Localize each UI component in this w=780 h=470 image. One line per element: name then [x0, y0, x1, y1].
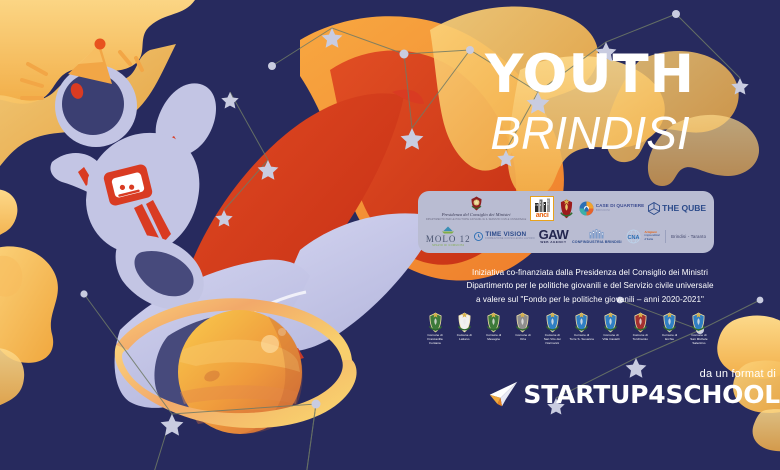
- funding-line-3: a valere sul "Fondo per le politiche gio…: [400, 293, 780, 306]
- comune-label: Comune diTorchiarolo: [633, 334, 648, 342]
- molo-12-tagline: SPAZIO DI COMUNITA: [432, 244, 464, 247]
- brindisi-crest-icon: [558, 198, 575, 219]
- comune-label-line: Normanni: [544, 342, 561, 346]
- comune-label-line: Salentino: [690, 342, 707, 346]
- gaw-wordmark: GAW: [539, 228, 569, 241]
- gaw-logo: GAW WEB AGENCY: [539, 223, 569, 250]
- confindustria-wordmark: CONFINDUSTRIA BRINDISI: [572, 240, 622, 244]
- cna-tagline-3: d'Italia: [644, 238, 660, 241]
- comune-crest-icon: [544, 312, 561, 333]
- comune-label-line: Fontana: [427, 342, 442, 346]
- comune-label-line: Oria: [515, 338, 530, 342]
- confindustria-brindisi-logo: CONFINDUSTRIA BRINDISI: [572, 223, 622, 250]
- comune-label: Comune diSan MicheleSalentino: [690, 334, 707, 345]
- comune-di-brindisi-logo: [558, 195, 575, 222]
- comune-crest-icon: [602, 312, 619, 333]
- comune-label-line: Torre S. Susanna: [569, 338, 593, 342]
- partner-logo-row-2: MOLO 12 SPAZIO DI COMUNITA TIME VISION F…: [424, 222, 708, 250]
- comune-crest-icon: [573, 312, 590, 333]
- paper-plane-icon: [485, 381, 519, 407]
- comune-crest-icon: [427, 312, 444, 333]
- funding-line-1: Iniziativa co-finanziata dalla Presidenz…: [400, 266, 780, 279]
- molo-12-wordmark: MOLO 12: [426, 234, 471, 244]
- comune-crest-icon: [632, 312, 649, 333]
- molo-boat-icon: [439, 226, 457, 234]
- poster-canvas: YOUTH BRINDISI Presidenza del Consiglio …: [0, 0, 780, 470]
- anci-buildings-icon: [534, 198, 551, 212]
- time-vision-clock-icon: [474, 232, 483, 241]
- comune-crest-icon: [456, 312, 473, 333]
- comune-label-line: Torchiarolo: [633, 338, 648, 342]
- time-vision-tagline: FORMAZIONE CONSULENZA LAVORO: [485, 238, 534, 241]
- cna-city-label: Brindisi - Taranto: [671, 234, 706, 239]
- partner-logo-panel: Presidenza del Consiglio dei Ministri DI…: [418, 191, 714, 253]
- case-di-quartiere-mark-icon: [579, 201, 594, 216]
- svg-text:CNA: CNA: [628, 235, 640, 241]
- comune-label: Comune diFrancavillaFontana: [427, 334, 442, 345]
- poster-title: YOUTH BRINDISI: [400, 48, 780, 160]
- case-di-quartiere-logo: CASE DI QUARTIERE BRINDISI: [579, 195, 645, 222]
- startup4school-credit: da un format di STARTUP4SCHOOL: [518, 368, 780, 407]
- cna-logo: CNA Artigiani imprenditori d'Italia Brin…: [625, 223, 706, 250]
- comune-torre-santa-susanna: Comune diTorre S. Susanna: [569, 312, 595, 342]
- molo-12-logo: MOLO 12 SPAZIO DI COMUNITA: [426, 223, 471, 250]
- presidenza-logo-subtitle: DIPARTIMENTO PER LE POLITICHE GIOVANILI …: [426, 218, 526, 221]
- comune-label: Comune diMesagne: [486, 334, 501, 342]
- gaw-tagline: WEB AGENCY: [540, 241, 566, 244]
- title-line-brindisi: BRINDISI: [400, 107, 780, 160]
- qube-cube-icon: [648, 202, 660, 215]
- time-vision-logo: TIME VISION FORMAZIONE CONSULENZA LAVORO: [474, 223, 534, 250]
- comune-san-michele-salentino: Comune diSan MicheleSalentino: [686, 312, 712, 345]
- comune-label: Comune diSan Vito deiNormanni: [544, 334, 561, 345]
- comune-label-line: Erchie: [662, 338, 677, 342]
- comune-label-line: Latiano: [457, 338, 472, 342]
- comune-crest-icon: [514, 312, 531, 333]
- presidenza-consiglio-ministri-logo: Presidenza del Consiglio dei Ministri DI…: [426, 195, 526, 222]
- comune-label: Comune diTorre S. Susanna: [569, 334, 593, 342]
- comune-latiano: Comune diLatiano: [451, 312, 477, 342]
- comune-label: Comune diLatiano: [457, 334, 472, 342]
- case-di-quartiere-city: BRINDISI: [596, 209, 645, 212]
- anci-wordmark: anci: [536, 212, 549, 219]
- cna-divider: [665, 230, 666, 243]
- confindustria-mark-icon: [589, 228, 604, 239]
- comune-torchiarolo: Comune diTorchiarolo: [627, 312, 653, 342]
- comune-san-vito-dei-normanni: Comune diSan Vito deiNormanni: [539, 312, 565, 345]
- italian-republic-emblem-icon: [470, 196, 483, 211]
- title-line-youth: YOUTH: [400, 48, 780, 101]
- the-qube-logo: THE QUBE: [648, 195, 706, 222]
- comune-mesagne: Comune diMesagne: [481, 312, 507, 342]
- presidenza-logo-title: Presidenza del Consiglio dei Ministri: [442, 212, 511, 217]
- partner-logo-row-1: Presidenza del Consiglio dei Ministri DI…: [424, 194, 708, 222]
- comune-erchie: Comune diErchie: [657, 312, 683, 342]
- cna-globe-icon: CNA: [625, 229, 642, 244]
- content-column: YOUTH BRINDISI Presidenza del Consiglio …: [400, 0, 780, 470]
- the-qube-wordmark: THE QUBE: [662, 203, 706, 213]
- comune-label: Comune diOria: [515, 334, 530, 342]
- comune-label: Comune diErchie: [662, 334, 677, 342]
- comune-crest-icon: [485, 312, 502, 333]
- comune-label: Comune diVilla Castelli: [602, 334, 619, 342]
- funding-line-2: Dipartimento per le politiche giovanili …: [400, 279, 780, 292]
- anci-logo: anci: [530, 196, 554, 221]
- comune-villa-castelli: Comune diVilla Castelli: [598, 312, 624, 342]
- funding-statement: Iniziativa co-finanziata dalla Presidenz…: [400, 266, 780, 306]
- comuni-crest-row: Comune diFrancavillaFontana Comune diLat…: [422, 312, 712, 345]
- comune-label-line: Villa Castelli: [602, 338, 619, 342]
- startup4school-wordmark: STARTUP4SCHOOL: [523, 382, 780, 407]
- comune-label-line: Mesagne: [486, 338, 501, 342]
- comune-oria: Comune diOria: [510, 312, 536, 342]
- comune-crest-icon: [661, 312, 678, 333]
- startup4school-kicker: da un format di: [518, 368, 780, 380]
- comune-crest-icon: [690, 312, 707, 333]
- comune-francavilla-fontana: Comune diFrancavillaFontana: [422, 312, 448, 345]
